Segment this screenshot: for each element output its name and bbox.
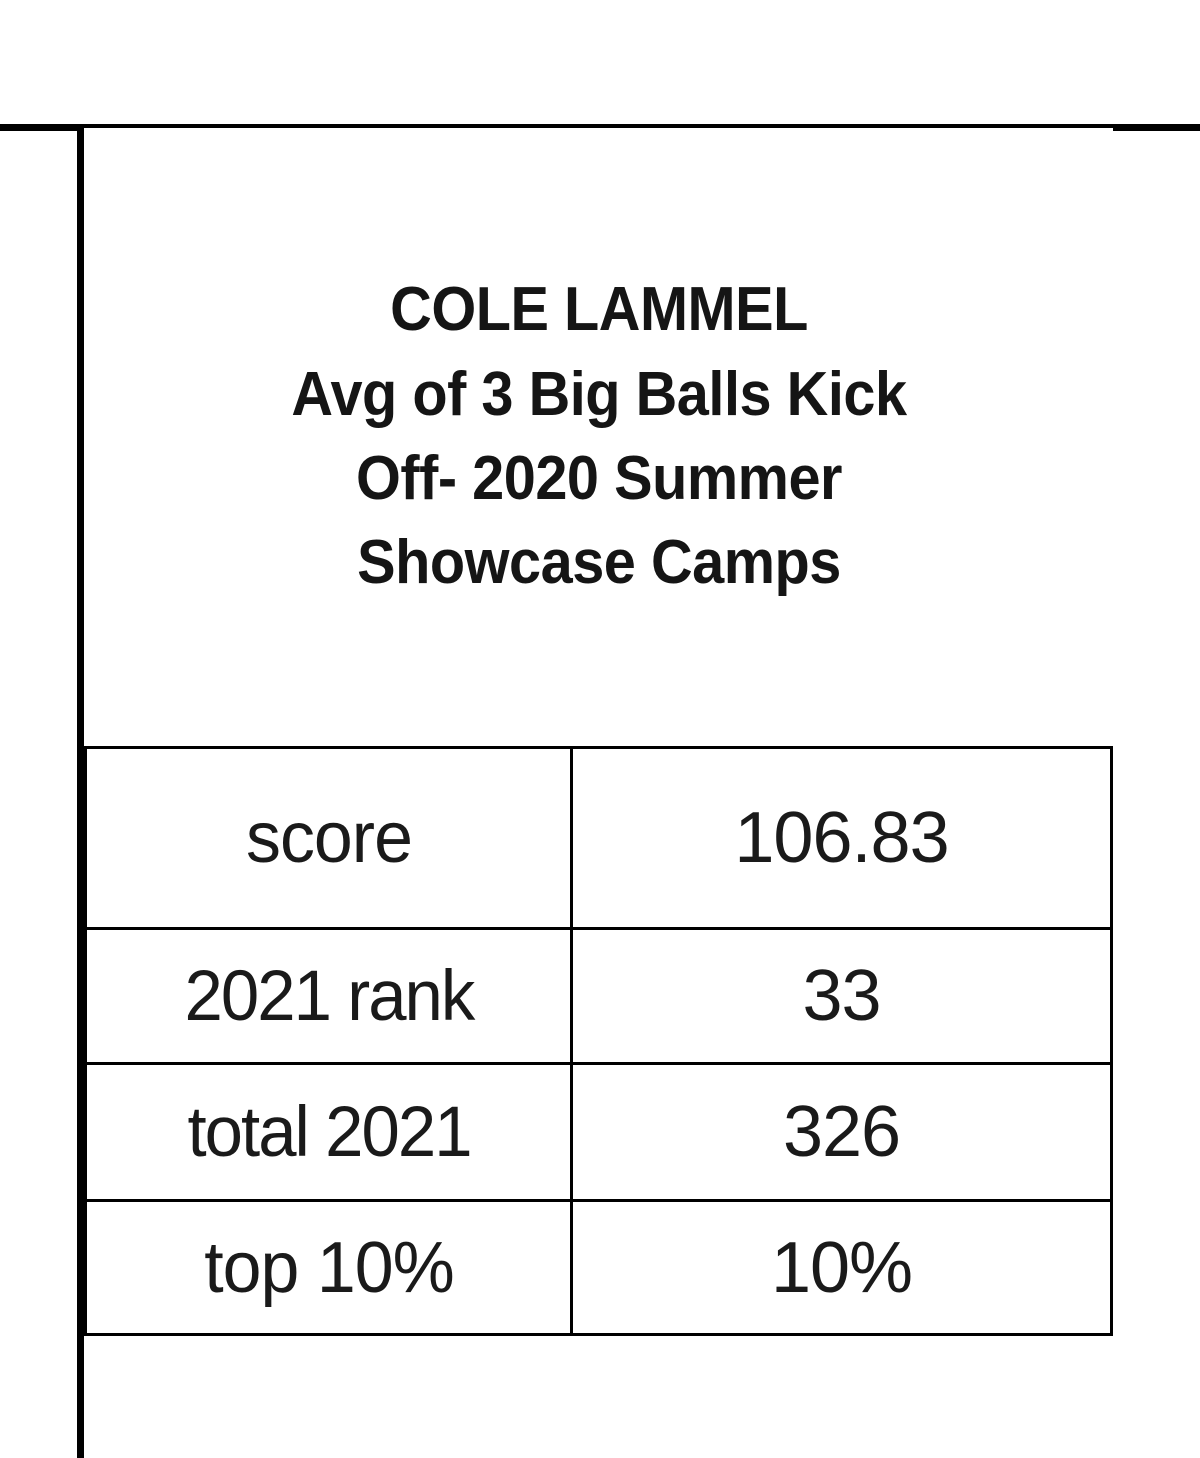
- row-label-2021-rank: 2021 rank: [93, 929, 564, 1064]
- table-row: score 106.83: [86, 748, 1112, 929]
- row-label-top-10-percent: top 10%: [93, 1201, 564, 1335]
- row-value-total-2021: 326: [572, 1064, 1112, 1201]
- table-row: total 2021 326: [86, 1064, 1112, 1201]
- table-header-row: COLE LAMMEL Avg of 3 Big Balls Kick Off-…: [86, 128, 1112, 748]
- row-value-2021-rank: 33: [572, 929, 1112, 1064]
- table-row: 2021 rank 33: [86, 929, 1112, 1064]
- table-row: top 10% 10%: [86, 1201, 1112, 1335]
- row-label-score: score: [93, 748, 564, 929]
- row-value-top-10-percent: 10%: [572, 1201, 1112, 1335]
- player-stat-table: COLE LAMMEL Avg of 3 Big Balls Kick Off-…: [84, 128, 1113, 1336]
- card-title-cell: COLE LAMMEL Avg of 3 Big Balls Kick Off-…: [86, 128, 1112, 748]
- row-value-score: 106.83: [572, 748, 1112, 929]
- row-label-total-2021: total 2021: [93, 1064, 564, 1201]
- page-title: COLE LAMMEL Avg of 3 Big Balls Kick Off-…: [134, 268, 1062, 605]
- left-frame-line: [77, 128, 84, 1458]
